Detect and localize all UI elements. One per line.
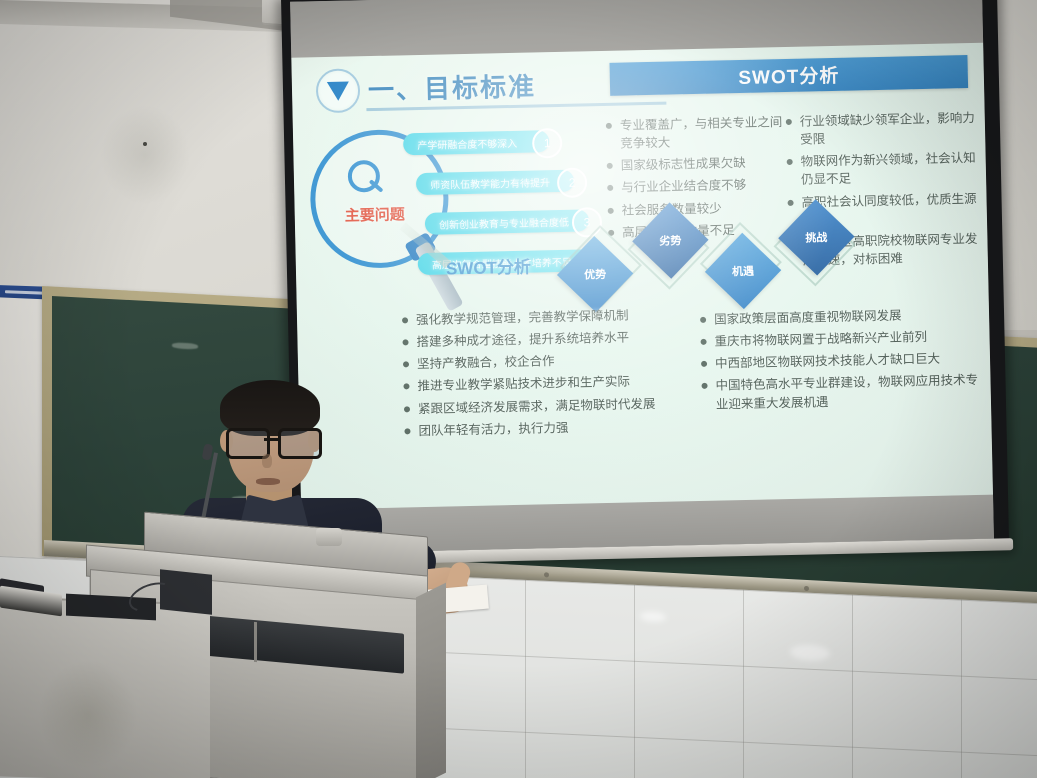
strengths-list-bottom: 强化教学规范管理，完善教学保障机制 搭建多种成才途径，提升系统培养水平 坚持产教… [401, 306, 666, 444]
list-item: 团队年轻有活力，执行力强 [403, 416, 665, 440]
list-item: 强化教学规范管理，完善教学保障机制 [401, 306, 663, 330]
list-item: 国家级标志性成果欠缺 [606, 153, 784, 175]
swot-banner: SWOT分析 [609, 55, 968, 96]
list-item: 重庆市将物联网置于战略新兴产业前列 [699, 327, 979, 351]
slide-title-text: 目标标准 [424, 71, 537, 103]
problem-bar-text: 产学研融合度不够深入 [403, 134, 517, 151]
eyeglasses-icon [224, 428, 320, 454]
problem-bar-text: 师资队伍教学能力有待提升 [416, 174, 550, 192]
wall-mark [143, 142, 147, 146]
institution-logo-icon [316, 68, 361, 113]
problem-bar: 创新创业教育与专业融合度低 3 [425, 209, 589, 235]
list-item: 中国特色高水平专业群建设，物联网应用技术专业迎来重大发展机遇 [700, 371, 981, 413]
list-item: 行业领域缺少领军企业，影响力受限 [785, 109, 982, 150]
diamond-opportunities: 机遇 [705, 233, 781, 309]
photo-scene: 一、目标标准 SWOT分析 主要问题 产学研融合度不够深入 1 [0, 0, 1037, 778]
list-item: 国家政策层面高度重视物联网发展 [699, 305, 979, 329]
diamond-label: 劣势 [659, 232, 681, 248]
wall-smudge [100, 105, 190, 205]
microphone-base [316, 528, 342, 546]
list-item: 与行业企业结合度不够 [606, 175, 784, 197]
swot-section-label: SWOT分析 [446, 253, 532, 280]
opportunities-list-bottom: 国家政策层面高度重视物联网发展 重庆市将物联网置于战略新兴产业前列 中西部地区物… [699, 305, 981, 418]
list-item: 坚持产教融合，校企合作 [402, 350, 664, 374]
list-item: 推进专业教学紧贴技术进步和生产实际 [402, 372, 664, 396]
slide-title: 一、目标标准 [368, 66, 537, 107]
problem-bar: 师资队伍教学能力有待提升 2 [416, 170, 574, 195]
diamond-label: 挑战 [805, 229, 827, 245]
diamond-label: 机遇 [732, 263, 754, 279]
list-item: 中西部地区物联网技术技能人才缺口巨大 [700, 349, 980, 373]
problem-bar-number: 2 [557, 167, 588, 198]
swot-banner-label: SWOT分析 [738, 61, 840, 90]
list-item: 紧跟区域经济发展需求，满足物联时代发展 [403, 394, 665, 418]
podium-side-edge [416, 583, 446, 778]
list-item: 专业覆盖广，与相关专业之间竞争较大 [605, 113, 784, 153]
problem-bar-text: 创新创业教育与专业融合度低 [425, 213, 569, 231]
list-item: 物联网作为新兴领域，社会认知仍显不足 [786, 149, 983, 190]
diamond-label: 优势 [584, 266, 606, 282]
main-problems-label: 主要问题 [325, 203, 425, 226]
problem-bar: 产学研融合度不够深入 1 [403, 130, 549, 155]
problem-bar-number: 1 [532, 128, 563, 159]
slide-section-number: 一、 [368, 74, 425, 105]
list-item: 社会服务数量较少 [607, 198, 785, 220]
list-item: 搭建多种成才途径，提升系统培养水平 [401, 328, 663, 352]
weaknesses-list-top: 专业覆盖广，与相关专业之间竞争较大 国家级标志性成果欠缺 与行业企业结合度不够 … [605, 113, 786, 246]
